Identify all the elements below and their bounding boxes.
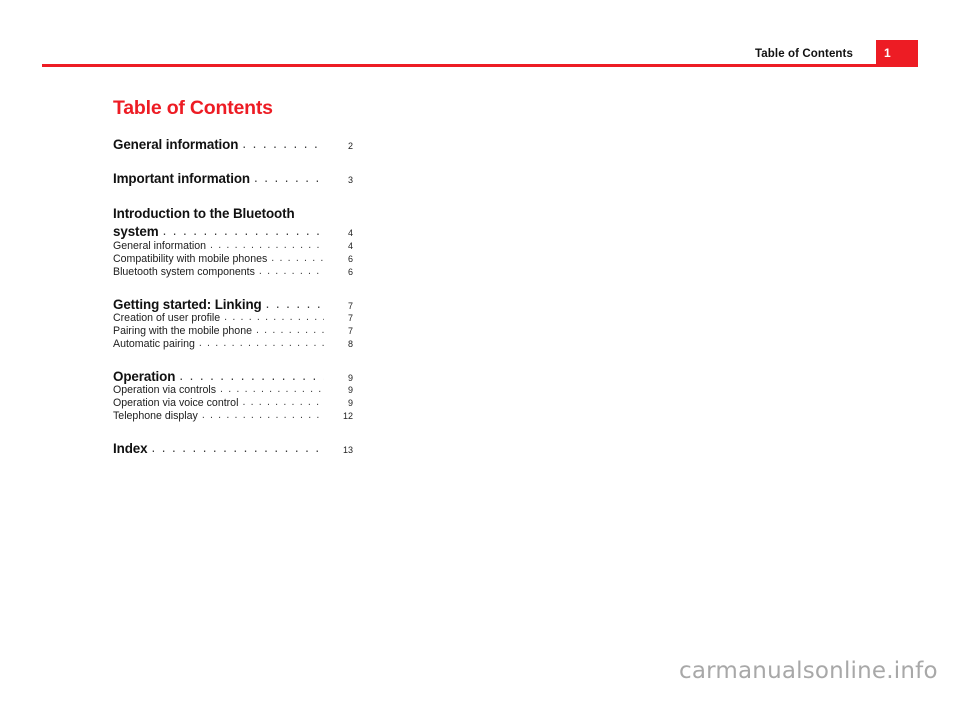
toc-sub-label: Creation of user profile: [113, 312, 220, 324]
toc-sub-label: General information: [113, 240, 206, 252]
page-header: Table of Contents 1: [0, 0, 960, 72]
leader-dots: . . . . . . . . . . . . . . . . . . . . …: [242, 136, 324, 151]
leader-dots: . . . . . . . . . . . . . . . . . . . . …: [199, 337, 324, 349]
toc-chapter-entry[interactable]: Important information . . . . . . . . . …: [113, 171, 353, 186]
toc-sub-page: 12: [327, 411, 353, 421]
page-title: Table of Contents: [113, 98, 373, 119]
leader-dots: . . . . . . . . . . . . . . . . . . . . …: [151, 440, 324, 455]
toc-group: General information . . . . . . . . . . …: [113, 137, 373, 152]
leader-dots: . . . . . . . . . . . . . . . . . . . . …: [242, 396, 324, 408]
toc-sub-entry[interactable]: Operation via controls . . . . . . . . .…: [113, 384, 353, 396]
toc-sub-label: Operation via voice control: [113, 397, 238, 409]
toc-chapter-label: Getting started: Linking: [113, 297, 262, 312]
leader-dots: . . . . . . . . . . . . . . . . . . . . …: [163, 222, 324, 239]
toc-group: Index . . . . . . . . . . . . . . . . . …: [113, 441, 373, 456]
toc-sub-entry[interactable]: Operation via voice control . . . . . . …: [113, 397, 353, 409]
toc-chapter-label: General information: [113, 137, 238, 152]
toc-sub-page: 6: [327, 267, 353, 277]
toc-chapter-label: Important information: [113, 171, 250, 186]
leader-dots: . . . . . . . . . . . . . . . . . . . . …: [202, 409, 324, 421]
leader-dots: . . . . . . . . . . . . . . . . . . . . …: [256, 324, 324, 336]
toc-chapter-page: 3: [327, 175, 353, 185]
toc-chapter-page: 2: [327, 141, 353, 151]
toc-sub-page: 8: [327, 339, 353, 349]
toc-chapter-label: Operation: [113, 369, 175, 384]
toc-chapter-page: 9: [327, 373, 353, 383]
toc-sub-page: 7: [327, 313, 353, 323]
toc-sub-label: Pairing with the mobile phone: [113, 325, 252, 337]
toc-chapter-page: 13: [327, 445, 353, 455]
leader-dots: . . . . . . . . . . . . . . . . . . . . …: [266, 296, 324, 311]
toc-sub-page: 4: [327, 241, 353, 251]
toc-sub-entry[interactable]: Compatibility with mobile phones . . . .…: [113, 253, 353, 265]
toc-sub-page: 9: [327, 398, 353, 408]
toc-chapter-entry[interactable]: Operation . . . . . . . . . . . . . . . …: [113, 369, 353, 384]
toc-chapter-entry[interactable]: system . . . . . . . . . . . . . . . . .…: [113, 223, 353, 240]
toc-sub-entry[interactable]: Pairing with the mobile phone . . . . . …: [113, 325, 353, 337]
toc-chapter-page: 4: [327, 228, 353, 240]
toc-chapter-label-line1: Introduction to the Bluetooth: [113, 205, 373, 222]
leader-dots: . . . . . . . . . . . . . . . . . . . . …: [220, 383, 324, 395]
leader-dots: . . . . . . . . . . . . . . . . . . . . …: [224, 311, 324, 323]
toc-sub-label: Telephone display: [113, 410, 198, 422]
toc-subentries: Creation of user profile . . . . . . . .…: [113, 312, 373, 350]
toc-chapter-label-line2: system: [113, 223, 159, 240]
toc-sub-entry[interactable]: Automatic pairing . . . . . . . . . . . …: [113, 338, 353, 350]
toc-chapter-label: Index: [113, 441, 147, 456]
toc-group: Introduction to the Bluetooth system . .…: [113, 205, 373, 278]
leader-dots: . . . . . . . . . . . . . . . . . . . . …: [210, 239, 324, 251]
toc-sub-page: 9: [327, 385, 353, 395]
leader-dots: . . . . . . . . . . . . . . . . . . . . …: [271, 252, 324, 264]
toc-group: Operation . . . . . . . . . . . . . . . …: [113, 369, 373, 422]
toc-subentries: Operation via controls . . . . . . . . .…: [113, 384, 373, 422]
toc-sub-page: 7: [327, 326, 353, 336]
header-title: Table of Contents: [755, 48, 853, 60]
toc-sub-label: Bluetooth system components: [113, 266, 255, 278]
table-of-contents: Table of Contents General information . …: [113, 98, 373, 456]
toc-sub-entry[interactable]: Bluetooth system components . . . . . . …: [113, 266, 353, 278]
toc-sub-label: Operation via controls: [113, 384, 216, 396]
toc-group: Important information . . . . . . . . . …: [113, 171, 373, 186]
toc-sub-label: Automatic pairing: [113, 338, 195, 350]
header-page-box: [876, 40, 918, 67]
toc-chapter-entry[interactable]: Getting started: Linking . . . . . . . .…: [113, 297, 353, 312]
leader-dots: . . . . . . . . . . . . . . . . . . . . …: [179, 368, 324, 383]
leader-dots: . . . . . . . . . . . . . . . . . . . . …: [259, 265, 324, 277]
toc-chapter-page: 7: [327, 301, 353, 311]
toc-sub-page: 6: [327, 254, 353, 264]
toc-sub-label: Compatibility with mobile phones: [113, 253, 267, 265]
toc-sub-entry[interactable]: Telephone display . . . . . . . . . . . …: [113, 410, 353, 422]
header-rule: [42, 64, 876, 67]
toc-subentries: General information . . . . . . . . . . …: [113, 240, 373, 278]
toc-sub-entry[interactable]: General information . . . . . . . . . . …: [113, 240, 353, 252]
leader-dots: . . . . . . . . . . . . . . . . . . . . …: [254, 170, 324, 185]
watermark: carmanualsonline.info: [679, 658, 938, 684]
toc-sub-entry[interactable]: Creation of user profile . . . . . . . .…: [113, 312, 353, 324]
header-page-number: 1: [884, 46, 891, 60]
toc-chapter-entry[interactable]: Index . . . . . . . . . . . . . . . . . …: [113, 441, 353, 456]
toc-group: Getting started: Linking . . . . . . . .…: [113, 297, 373, 350]
toc-chapter-entry[interactable]: General information . . . . . . . . . . …: [113, 137, 353, 152]
